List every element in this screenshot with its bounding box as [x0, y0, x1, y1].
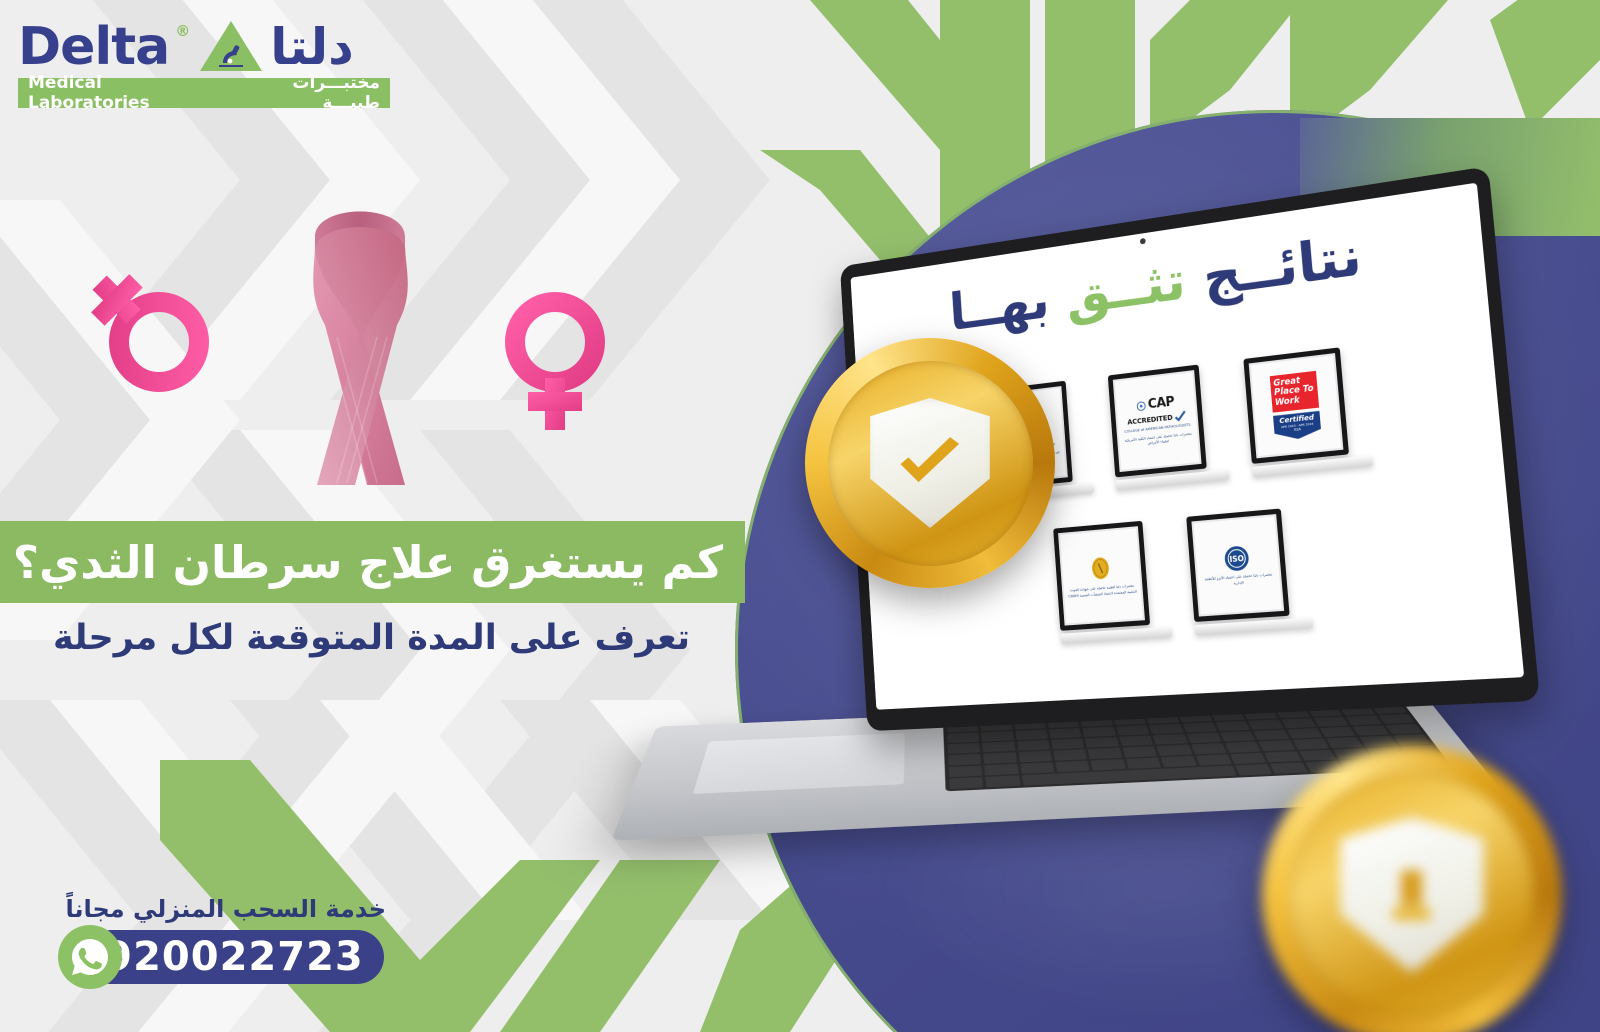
headline-question: كم يستغرق علاج سرطان الثدي؟ — [13, 536, 723, 589]
gold-medal-icon — [1088, 555, 1112, 585]
poster-canvas: Delta ® دلتا Medical Laboratories مختبــ… — [0, 0, 1600, 1032]
phone-pill[interactable]: 920022723 — [84, 930, 384, 984]
headline-subtitle: تعرف على المدة المتوقعة لكل مرحلة — [0, 618, 690, 658]
certificate-iso[interactable]: ISO مختبرات دلتا حاصلة على اعتماد الأيزو… — [1186, 508, 1291, 635]
screen-headline: نتائــج تثــق بهــا — [852, 205, 1486, 355]
certificate-great-place-to-work[interactable]: Great Place To Work Certified APR 2023 -… — [1243, 347, 1350, 477]
certificate-subtitle-ar: مختبرات دلتا الطبية حاصلة على شهادة الجو… — [1068, 584, 1138, 600]
logo-name-en: Delta — [18, 21, 169, 73]
certificate-frame: CAP ACCREDITED COLLEGE of AMERICAN PATHO… — [1108, 365, 1207, 478]
certificate-accreditation-label: ACCREDITED — [1127, 414, 1173, 427]
headline-band: كم يستغرق علاج سرطان الثدي؟ — [0, 521, 745, 603]
microscope-icon — [213, 41, 249, 69]
svg-text:ISO: ISO — [1229, 553, 1244, 564]
quality-award-badge — [1262, 745, 1562, 1032]
certificate-frame: ISO مختبرات دلتا حاصلة على اعتماد الأيزو… — [1186, 508, 1289, 622]
logo-top-row: Delta ® دلتا — [18, 18, 390, 76]
certificate-inner: ISO مختبرات دلتا حاصلة على اعتماد الأيزو… — [1191, 514, 1284, 617]
certificate-inner: مختبرات دلتا الطبية حاصلة على شهادة الجو… — [1058, 526, 1145, 625]
logo-name-ar: دلتا — [270, 20, 354, 74]
pink-awareness-ribbon — [255, 185, 465, 495]
screen-headline-part3: بهــا — [948, 269, 1052, 342]
certificate-frame: Great Place To Work Certified APR 2023 -… — [1243, 347, 1349, 464]
certificate-subtitle-ar: مختبرات دلتا حاصلة على اعتماد الأيزو للأ… — [1202, 572, 1276, 588]
logo-tagline-bar: Medical Laboratories مختبـــرات طبيـــة — [18, 78, 390, 108]
laptop-trackpad — [693, 733, 905, 794]
whatsapp-glyph-icon — [69, 936, 111, 978]
checkmark-icon — [896, 437, 964, 489]
female-gender-symbol-right — [495, 290, 640, 445]
iso-certified-icon: ISO — [1223, 544, 1251, 573]
registered-mark: ® — [175, 22, 190, 40]
screen-headline-part1: نتائــج — [1201, 223, 1364, 308]
gptw-name: Great Place To Work — [1270, 371, 1319, 413]
certificate-inner: Great Place To Work Certified APR 2023 -… — [1249, 353, 1344, 458]
certificate-gold-award[interactable]: مختبرات دلتا الطبية حاصلة على شهادة الجو… — [1053, 521, 1151, 644]
certificate-inner: CAP ACCREDITED COLLEGE of AMERICAN PATHO… — [1113, 370, 1202, 472]
contact-block[interactable]: خدمة السحب المنزلي مجاناً 920022723 — [36, 895, 396, 1005]
logo-tagline-ar: مختبـــرات طبيـــة — [229, 73, 380, 113]
phone-number: 920022723 — [104, 934, 364, 980]
female-gender-symbol-left — [75, 255, 220, 405]
microscope-triangle-icon — [200, 21, 262, 73]
screen-headline-part2: تثــق — [1064, 249, 1188, 327]
certificate-cap[interactable]: CAP ACCREDITED COLLEGE of AMERICAN PATHO… — [1108, 365, 1208, 491]
cap-emblem-icon — [1136, 401, 1146, 412]
home-collection-label: خدمة السحب المنزلي مجاناً — [65, 895, 386, 923]
certificate-frame: مختبرات دلتا الطبية حاصلة على شهادة الجو… — [1053, 521, 1150, 631]
whatsapp-icon[interactable] — [58, 925, 122, 989]
quality-shield-badge — [805, 338, 1055, 588]
trophy-icon — [1371, 864, 1452, 926]
webcam-icon — [1140, 238, 1146, 245]
logo-tagline-en: Medical Laboratories — [28, 73, 229, 113]
check-icon — [1174, 412, 1186, 422]
brand-logo[interactable]: Delta ® دلتا Medical Laboratories مختبــ… — [18, 18, 390, 110]
certificate-name: CAP — [1147, 395, 1174, 413]
